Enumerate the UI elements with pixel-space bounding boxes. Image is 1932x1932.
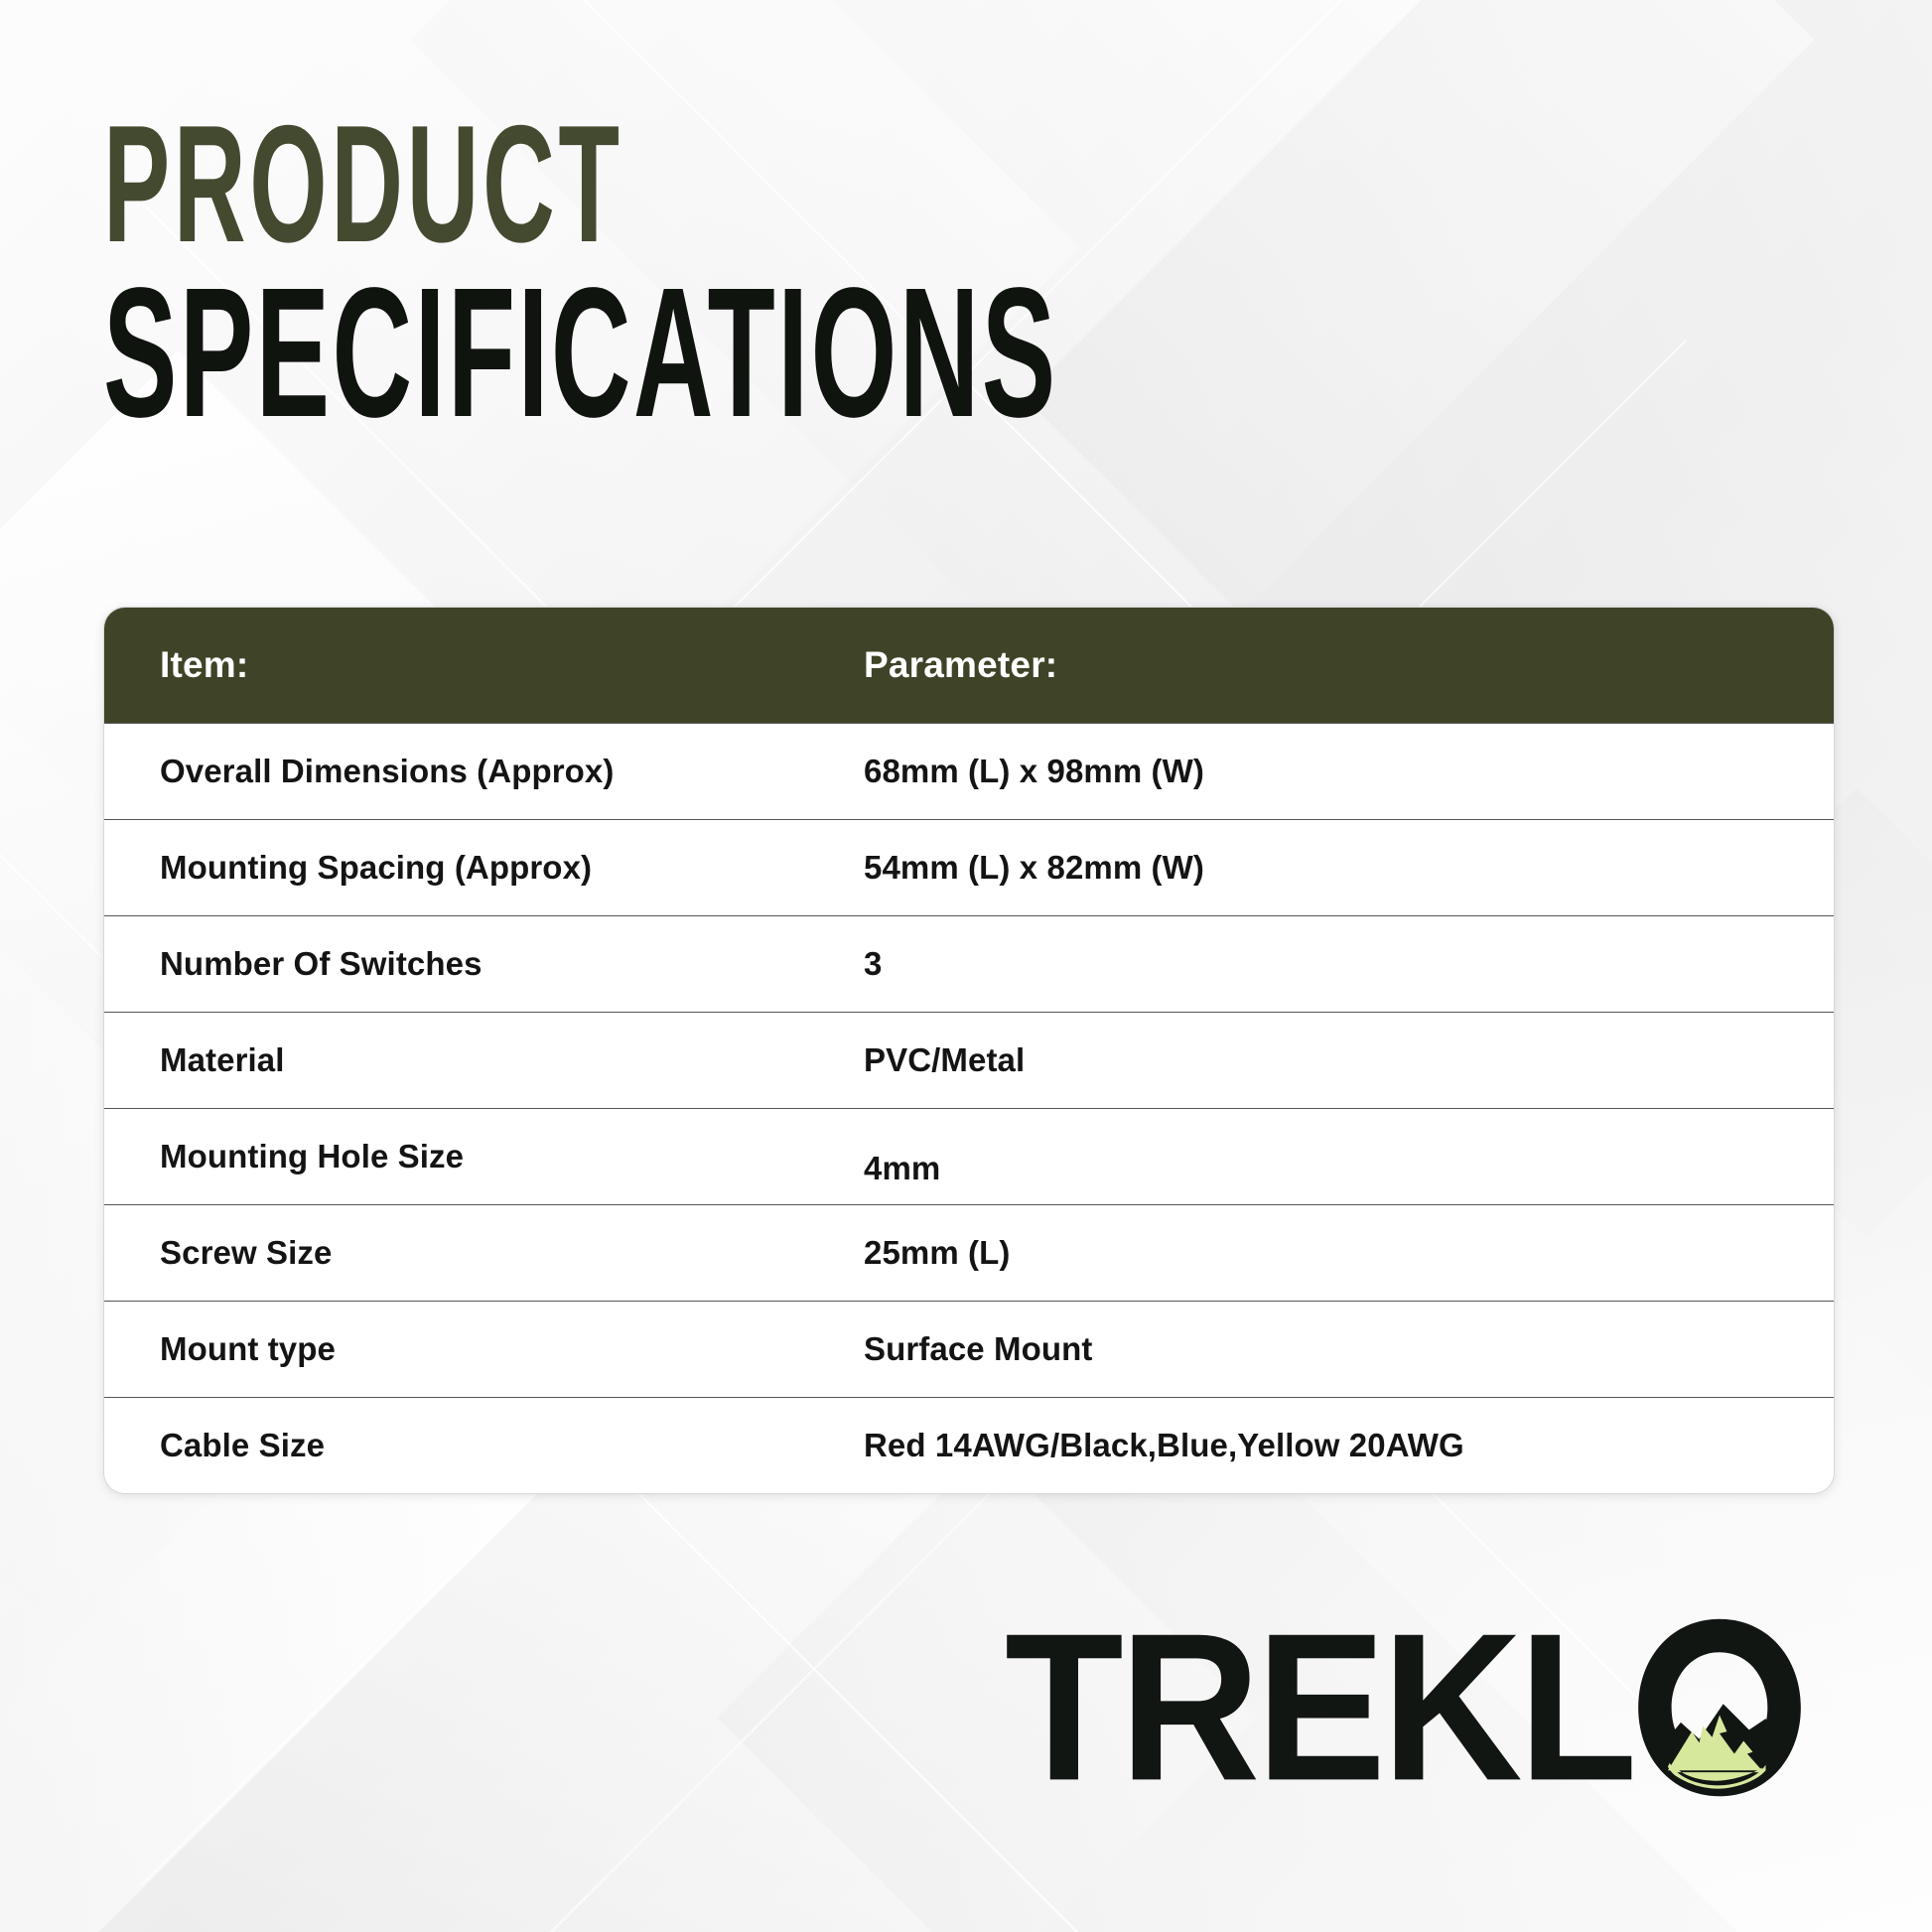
page-title-line-1: PRODUCT [103,111,1058,258]
row-item-label: Overall Dimensions (Approx) [104,753,864,790]
column-header-parameter: Parameter: [864,644,1834,686]
brand-logo: TREKL [1005,1608,1812,1807]
table-header-row: Item: Parameter: [104,608,1834,723]
table-row: Material PVC/Metal [104,1012,1834,1108]
row-item-value: 54mm (L) x 82mm (W) [864,849,1834,887]
row-item-value: 25mm (L) [864,1234,1834,1272]
mountain-in-circle-icon [1627,1615,1812,1800]
table-row: Mount type Surface Mount [104,1301,1834,1397]
row-item-label: Mounting Hole Size [104,1138,864,1175]
table-row: Mounting Spacing (Approx) 54mm (L) x 82m… [104,819,1834,915]
row-item-label: Mount type [104,1330,864,1368]
row-item-value: PVC/Metal [864,1041,1834,1079]
row-item-value: Red 14AWG/Black,Blue,Yellow 20AWG [864,1427,1834,1464]
row-item-label: Mounting Spacing (Approx) [104,849,864,887]
page-title-line-2: SPECIFICATIONS [103,272,1058,435]
spec-sheet-page: PRODUCT SPECIFICATIONS Item: Parameter: … [0,0,1932,1932]
specifications-table: Item: Parameter: Overall Dimensions (App… [103,607,1835,1494]
row-item-label: Cable Size [104,1427,864,1464]
column-header-item: Item: [104,644,864,686]
row-item-value: 4mm [864,1150,1834,1187]
table-row: Mounting Hole Size 4mm [104,1108,1834,1204]
row-item-label: Material [104,1041,864,1079]
brand-wordmark: TREKL [1005,1602,1633,1813]
row-item-value: 68mm (L) x 98mm (W) [864,753,1834,790]
table-row: Number Of Switches 3 [104,915,1834,1012]
row-item-label: Screw Size [104,1234,864,1272]
page-title: PRODUCT SPECIFICATIONS [103,111,1695,435]
row-item-value: Surface Mount [864,1330,1834,1368]
row-item-label: Number Of Switches [104,945,864,983]
row-item-value: 3 [864,945,1834,983]
table-row: Overall Dimensions (Approx) 68mm (L) x 9… [104,723,1834,819]
table-row: Cable Size Red 14AWG/Black,Blue,Yellow 2… [104,1397,1834,1493]
table-row: Screw Size 25mm (L) [104,1204,1834,1301]
